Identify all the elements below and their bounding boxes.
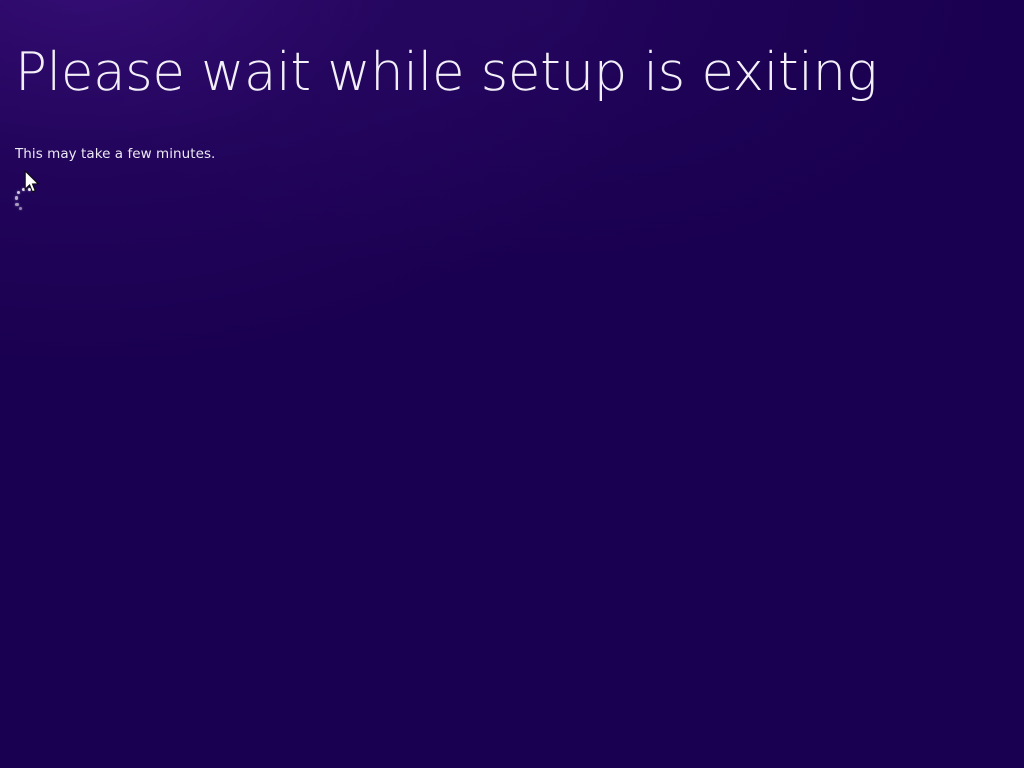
spinner-dot bbox=[19, 207, 22, 210]
setup-screen: Please wait while setup is exiting This … bbox=[0, 0, 1024, 768]
page-title: Please wait while setup is exiting bbox=[15, 44, 877, 101]
loading-spinner-icon bbox=[12, 185, 42, 215]
page-subtitle: This may take a few minutes. bbox=[15, 146, 215, 162]
spinner-dot bbox=[28, 188, 31, 191]
spinner-dot bbox=[15, 203, 18, 206]
spinner-dot bbox=[17, 191, 20, 194]
spinner-dot bbox=[22, 188, 25, 191]
spinner-dot bbox=[15, 196, 18, 199]
